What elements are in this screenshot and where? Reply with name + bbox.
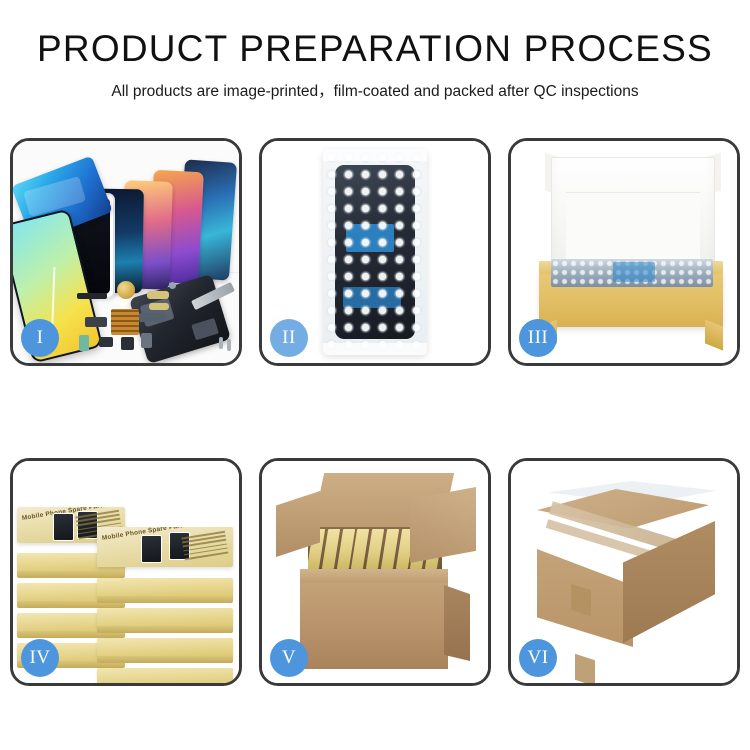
page-title: PRODUCT PREPARATION PROCESS	[0, 30, 750, 69]
step-badge-2: II	[270, 319, 308, 357]
box-window-1a	[53, 513, 74, 541]
component-flex-cable-2	[149, 303, 169, 310]
carton-label-lower	[575, 654, 595, 683]
carton-side-face	[444, 585, 470, 661]
retail-box-layer	[97, 578, 233, 597]
component-connector	[85, 317, 107, 327]
step-card-3[interactable]: III	[508, 138, 740, 366]
box-stack-right: Mobile Phone Spare Parts	[97, 527, 233, 683]
page-subtitle: All products are image-printed，film-coat…	[0, 79, 750, 101]
component-screw-1	[219, 337, 223, 349]
step-card-6[interactable]: VI	[508, 458, 740, 686]
component-ribbon	[139, 313, 165, 322]
component-flex-cable-1	[147, 291, 169, 299]
step-badge-4: IV	[21, 639, 59, 677]
step-card-4[interactable]: Mobile Phone Spare Parts	[10, 458, 242, 686]
bubble-highlights	[323, 149, 427, 355]
step-badge-5: V	[270, 639, 308, 677]
step-card-5[interactable]: V	[259, 458, 491, 686]
component-screw-2	[227, 339, 231, 351]
component-battery-small	[79, 335, 89, 351]
component-button	[169, 282, 176, 289]
box-window-2a	[141, 535, 162, 563]
step-card-2[interactable]: II	[259, 138, 491, 366]
pouch-seal-top	[323, 149, 427, 161]
component-screw-tray	[111, 309, 139, 335]
step-badge-1: I	[21, 319, 59, 357]
step-card-1[interactable]: I	[10, 138, 242, 366]
box-checklist-2	[181, 531, 228, 563]
retail-box-printed-top-2: Mobile Phone Spare Parts	[97, 527, 233, 567]
retail-box-layer	[97, 638, 233, 657]
component-chip-2	[121, 337, 134, 350]
wrapped-contents	[551, 259, 713, 287]
header: PRODUCT PREPARATION PROCESS All products…	[0, 0, 750, 101]
bubble-wrap-pouch	[323, 149, 427, 355]
component-chip-1	[99, 337, 113, 347]
carton-flap-right	[410, 487, 476, 563]
retail-box-layer	[97, 608, 233, 627]
product-preparation-infographic: PRODUCT PREPARATION PROCESS All products…	[0, 0, 750, 750]
retail-box-layer	[97, 668, 233, 683]
step-badge-3: III	[519, 319, 557, 357]
box-tray-kraft	[539, 273, 723, 327]
pouch-seal-bottom	[323, 343, 427, 355]
carton-rim	[300, 569, 448, 583]
steps-grid: I II	[10, 138, 740, 686]
component-camera	[141, 333, 152, 348]
step-badge-6: VI	[519, 639, 557, 677]
carton-front-face	[300, 583, 448, 669]
component-vibrator	[117, 281, 135, 299]
component-speaker	[77, 293, 107, 299]
